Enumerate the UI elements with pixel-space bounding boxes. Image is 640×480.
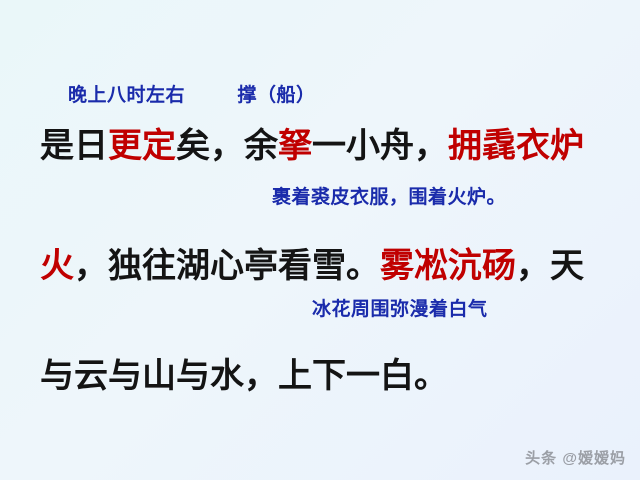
annotation-line-1: 晚上八时左右 撑（船） [68,80,316,107]
verse-line-3: 与云与山与水，上下一白。 [40,348,448,397]
watermark-handle: @嫒嫒妈 [562,450,626,467]
annotation-ice-mist: 冰花周围弥漫着白气 [312,299,488,320]
verse-2-segment-2: ，独往湖心亭看雪。 [74,247,380,285]
slide-canvas: 晚上八时左右 撑（船） 是日更定矣，余拏一小舟，拥毳衣炉 裹着裘皮衣服，围着火炉… [0,0,640,480]
verse-3-segment-1: 与云与山与水，上下一白。 [40,357,448,395]
verse-2-segment-4: ，天 [516,247,584,285]
verse-1-segment-1: 是日 [40,127,108,165]
verse-2-highlight-wusonghangdang: 雾凇沆砀 [380,247,516,285]
verse-1-segment-5: 一小舟， [312,127,448,165]
verse-1-highlight-gengding: 更定 [108,127,176,165]
verse-1-highlight-na: 拏 [278,127,312,165]
annotation-line-2: 裹着裘皮衣服，围着火炉。 [272,182,506,209]
verse-line-1: 是日更定矣，余拏一小舟，拥毳衣炉 [40,118,584,167]
verse-1-segment-3: 矣，余 [176,127,278,165]
annotation-fur-coat-stove: 裹着裘皮衣服，围着火炉。 [272,187,506,208]
annotation-time-of-day: 晚上八时左右 [68,85,185,106]
annotation-punt-boat: 撑（船） [238,85,316,106]
annotation-line-3: 冰花周围弥漫着白气 [312,294,488,321]
verse-2-highlight-huo: 火 [40,247,74,285]
verse-line-2: 火，独往湖心亭看雪。雾凇沆砀，天 [40,238,584,287]
verse-1-highlight-yongcuiyilu: 拥毳衣炉 [448,127,584,165]
watermark: 头条 @嫒嫒妈 [525,447,626,468]
watermark-source-label: 头条 [525,450,557,467]
